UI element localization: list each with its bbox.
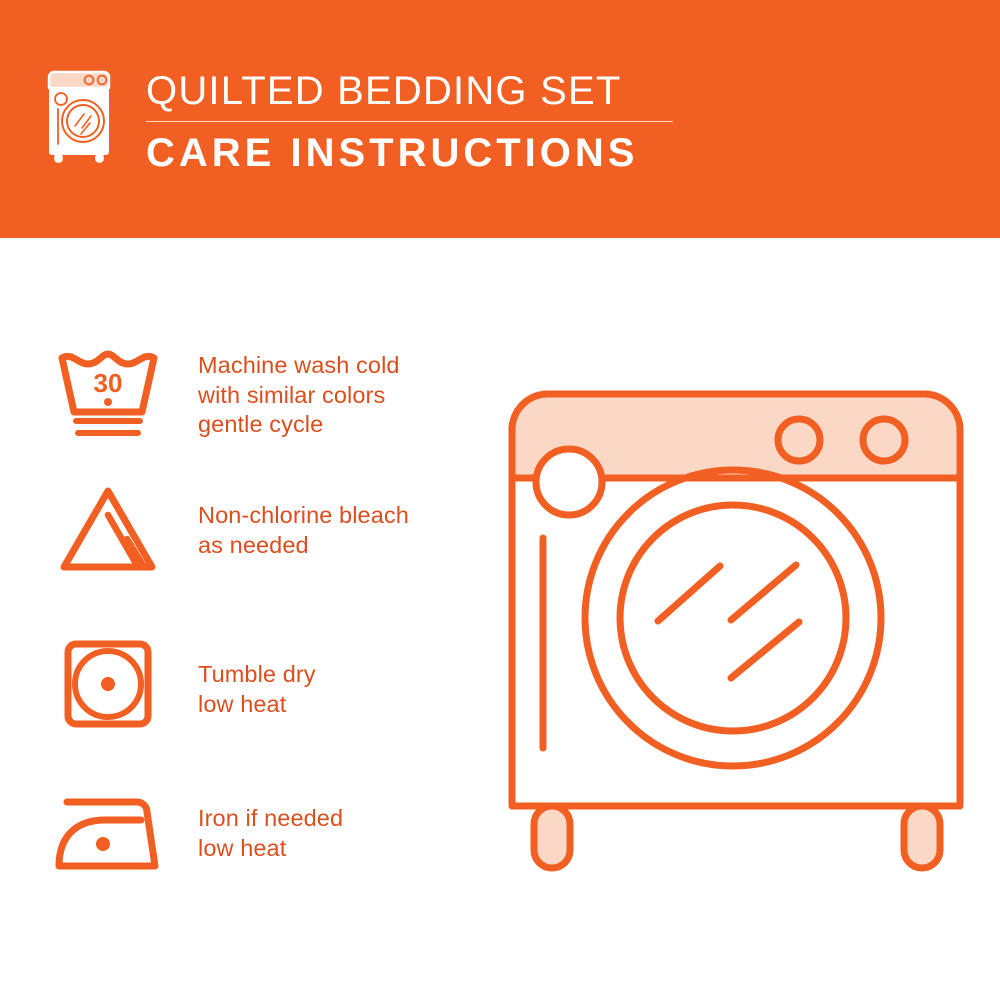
- tumble-dry-icon: [48, 638, 168, 734]
- care-text-line: Iron if needed: [198, 804, 343, 834]
- care-item-tumble-dry: Tumble dry low heat: [48, 638, 316, 734]
- care-item-text: Iron if needed low heat: [168, 786, 343, 863]
- care-item-bleach: Non-chlorine bleach as needed: [48, 481, 409, 577]
- care-text-line: Tumble dry: [198, 660, 316, 690]
- care-text-line: with similar colors: [198, 381, 400, 411]
- wash-temperature-label: 30: [94, 368, 123, 398]
- care-text-line: gentle cycle: [198, 410, 400, 440]
- care-text-line: Machine wash cold: [198, 351, 400, 381]
- header-title-block: QUILTED BEDDING SET CARE INSTRUCTIONS: [146, 66, 673, 176]
- care-text-line: as needed: [198, 531, 409, 561]
- care-instruction-list: 30 Machine wash cold with similar colors…: [0, 238, 480, 1000]
- care-text-line: low heat: [198, 834, 343, 864]
- header-banner: QUILTED BEDDING SET CARE INSTRUCTIONS: [0, 0, 1000, 238]
- page-subtitle: CARE INSTRUCTIONS: [146, 130, 673, 176]
- wash-tub-icon: 30: [48, 344, 168, 440]
- page-title: QUILTED BEDDING SET: [146, 68, 673, 114]
- care-item-text: Machine wash cold with similar colors ge…: [168, 344, 400, 440]
- iron-icon: [48, 786, 168, 876]
- care-text-line: low heat: [198, 690, 316, 720]
- care-item-text: Non-chlorine bleach as needed: [168, 481, 409, 560]
- washing-machine-illustration: [486, 330, 986, 950]
- care-item-machine-wash: 30 Machine wash cold with similar colors…: [48, 344, 400, 440]
- care-text-line: Non-chlorine bleach: [198, 501, 409, 531]
- header-content: QUILTED BEDDING SET CARE INSTRUCTIONS: [44, 66, 673, 176]
- care-item-iron: Iron if needed low heat: [48, 786, 343, 876]
- washing-machine-icon: [44, 66, 118, 166]
- title-divider: [146, 121, 673, 122]
- bleach-triangle-icon: [48, 481, 168, 577]
- care-item-text: Tumble dry low heat: [168, 638, 316, 719]
